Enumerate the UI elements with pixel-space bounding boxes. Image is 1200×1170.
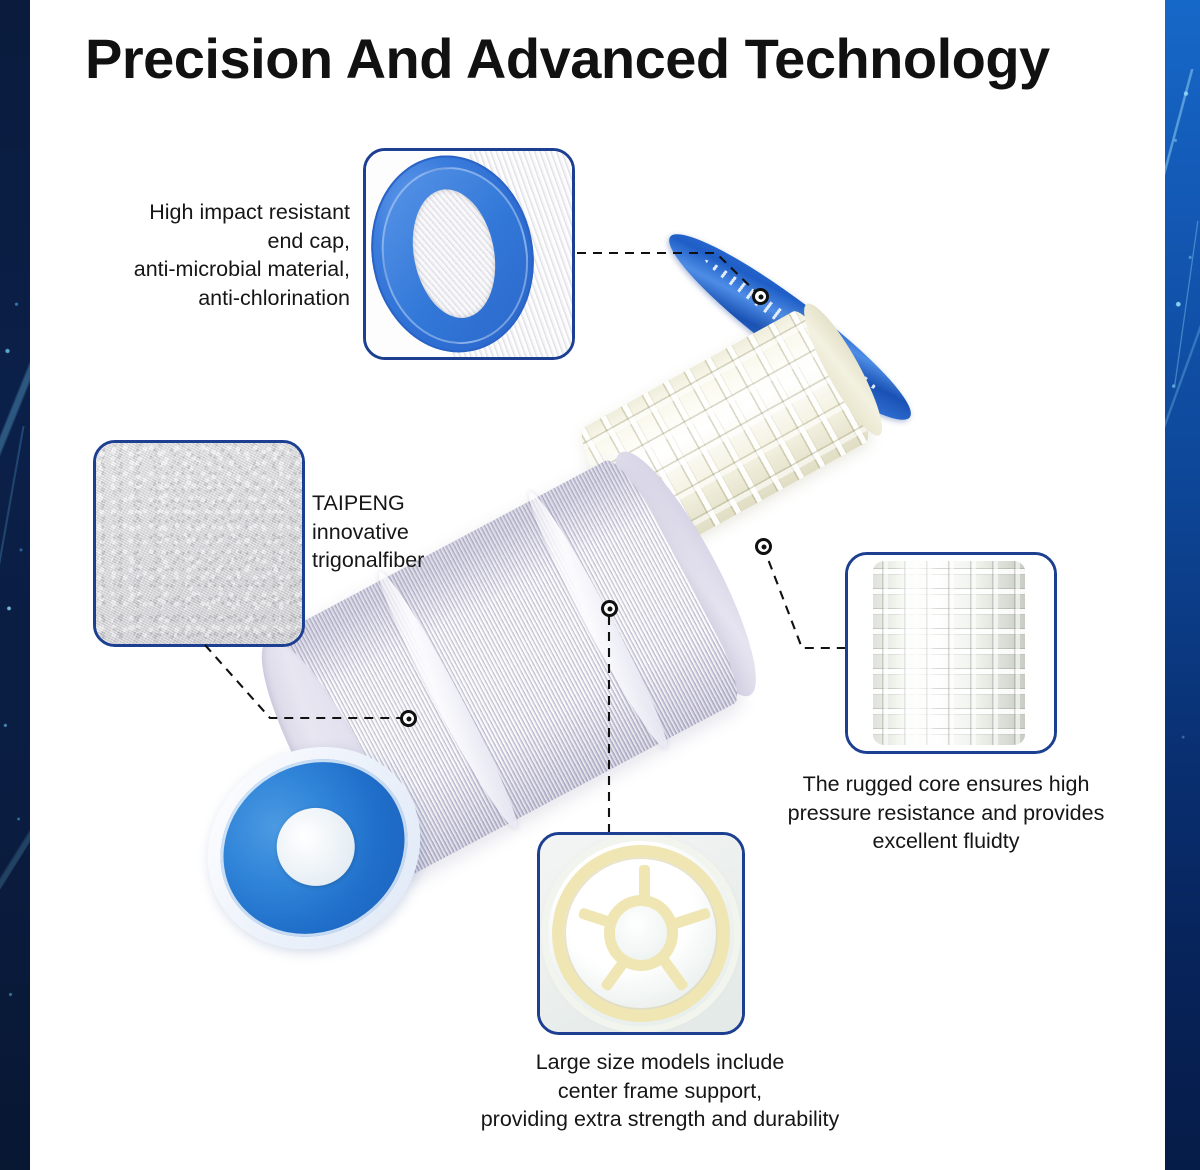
infographic-page: Precision And Advanced Technology — [0, 0, 1200, 1170]
callout-text-center-frame: Large size models include center frame s… — [420, 1048, 900, 1134]
callout-box-end-cap[interactable] — [363, 148, 575, 360]
center-frame-photo-inner — [548, 841, 734, 1026]
marker-core — [755, 538, 772, 555]
callout-box-core[interactable] — [845, 552, 1057, 754]
marker-center-frame — [601, 600, 618, 617]
callout-text-core: The rugged core ensures high pressure re… — [748, 770, 1144, 856]
page-title: Precision And Advanced Technology — [85, 26, 1050, 91]
marker-end-cap — [752, 288, 769, 305]
blue-end-cap-photo — [366, 151, 572, 357]
center-frame-support-photo — [540, 835, 742, 1032]
lattice-core-photo — [848, 555, 1054, 751]
left-water-texture-strip — [0, 0, 30, 1170]
right-water-texture-strip — [1165, 0, 1200, 1170]
callout-box-center-frame[interactable] — [537, 832, 745, 1035]
lattice-core-photo-cylinder — [873, 561, 1025, 745]
marker-fiber — [400, 710, 417, 727]
callout-text-fiber: TAIPENG innovative trigonalfiber — [312, 489, 542, 575]
callout-box-fiber[interactable] — [93, 440, 305, 647]
trigonal-fiber-texture-photo — [96, 443, 302, 644]
callout-text-end-cap: High impact resistant end cap, anti-micr… — [75, 198, 350, 312]
center-frame-hub — [604, 895, 678, 971]
